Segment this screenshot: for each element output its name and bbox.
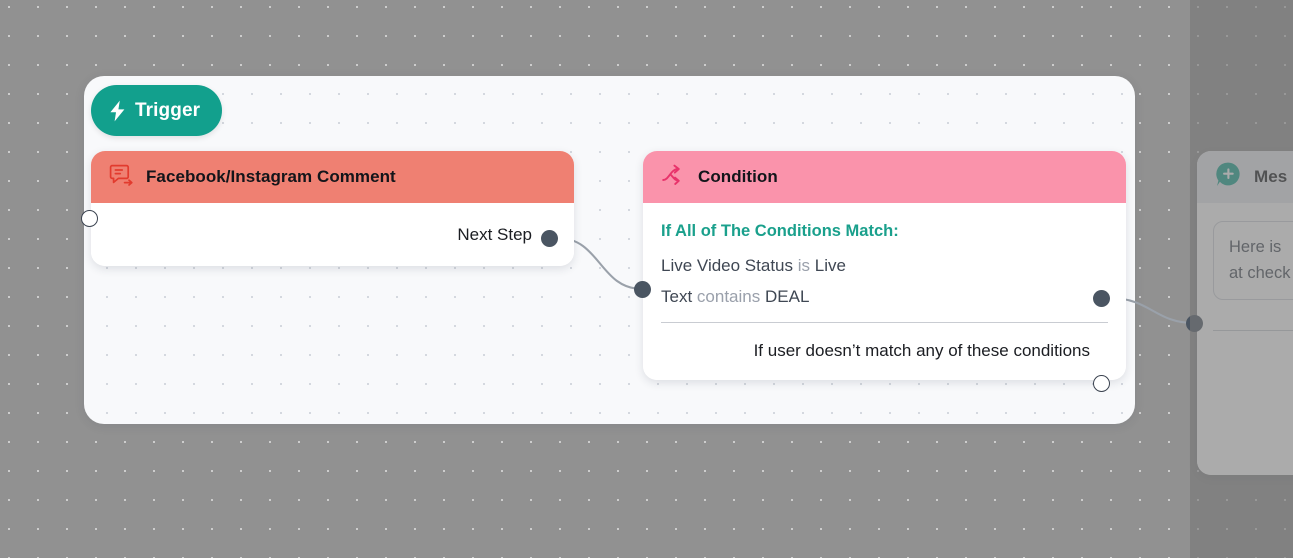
node-title: Mes <box>1254 167 1287 187</box>
port-input-message[interactable] <box>1186 315 1203 332</box>
condition-fallback-row[interactable]: If user doesn’t match any of these condi… <box>643 323 1126 380</box>
condition-rule[interactable]: Text contains DEAL <box>661 286 1108 307</box>
rule-value: DEAL <box>765 287 809 306</box>
node-title: Facebook/Instagram Comment <box>146 167 396 187</box>
lightning-bolt-icon <box>109 100 126 122</box>
port-output-condition-fallback[interactable] <box>1093 375 1110 392</box>
trigger-pill-label: Trigger <box>135 100 200 122</box>
node-header[interactable]: Mes <box>1197 151 1293 203</box>
node-header[interactable]: Condition <box>643 151 1126 203</box>
flow-canvas[interactable]: Trigger Facebook/Instagram Comment Next … <box>0 0 1293 558</box>
message-plus-icon <box>1215 161 1242 193</box>
condition-fallback-label: If user doesn’t match any of these condi… <box>754 341 1090 361</box>
rule-operator: is <box>798 256 810 275</box>
branch-arrow-icon <box>661 163 686 192</box>
node-body: Here is at check <box>1197 203 1293 475</box>
port-output-condition-match[interactable] <box>1093 290 1110 307</box>
message-line-2: at check <box>1229 261 1293 287</box>
message-line-1: Here is <box>1229 235 1293 261</box>
node-message[interactable]: Mes Here is at check <box>1197 151 1293 475</box>
node-condition[interactable]: Condition If All of The Conditions Match… <box>643 151 1126 380</box>
node-body: If All of The Conditions Match: Live Vid… <box>643 203 1126 380</box>
divider <box>1213 330 1293 331</box>
next-step-label: Next Step <box>457 225 532 245</box>
trigger-pill[interactable]: Trigger <box>91 85 222 136</box>
rule-operator: contains <box>697 287 760 306</box>
condition-rule[interactable]: Live Video Status is Live <box>661 255 1108 276</box>
node-body: Next Step <box>91 203 574 266</box>
node-header[interactable]: Facebook/Instagram Comment <box>91 151 574 203</box>
port-output-next-step[interactable] <box>541 230 558 247</box>
rule-field: Live Video Status <box>661 256 793 275</box>
rule-value: Live <box>815 256 846 275</box>
port-input-condition[interactable] <box>634 281 651 298</box>
node-title: Condition <box>698 167 778 187</box>
node-facebook-instagram-comment[interactable]: Facebook/Instagram Comment Next Step <box>91 151 574 266</box>
rule-field: Text <box>661 287 692 306</box>
message-text-bubble[interactable]: Here is at check <box>1213 221 1293 300</box>
port-input-facebook-comment[interactable] <box>81 210 98 227</box>
comment-arrow-icon <box>109 163 134 192</box>
condition-heading: If All of The Conditions Match: <box>661 222 1108 241</box>
